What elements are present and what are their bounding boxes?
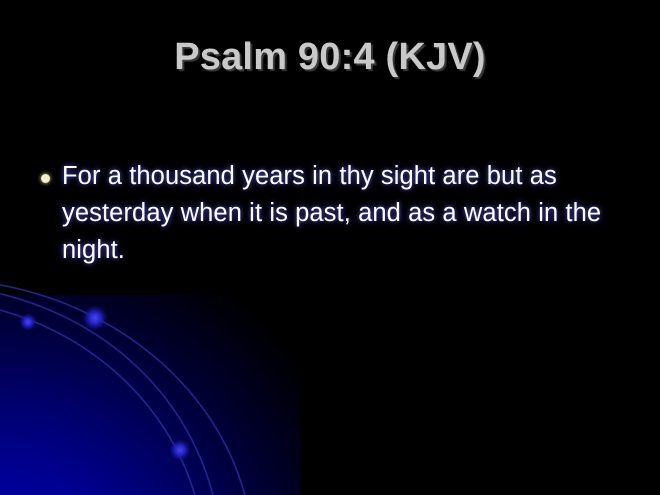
decorative-dot-small-left: [19, 313, 37, 331]
bullet-list-item: For a thousand years in thy sight are bu…: [32, 158, 628, 269]
presentation-slide: Psalm 90:4 (KJV) For a thousand years in…: [0, 0, 660, 495]
slide-body: For a thousand years in thy sight are bu…: [32, 158, 628, 269]
decorative-corner-artwork: [0, 255, 340, 495]
arc-inner-path: [0, 307, 196, 495]
decorative-dot-large-upper: [82, 305, 108, 331]
decorative-arcs-svg: [0, 255, 340, 495]
slide-title: Psalm 90:4 (KJV): [0, 36, 660, 79]
decorative-dot-lower: [169, 439, 191, 461]
arc-middle-glow: [0, 291, 214, 495]
arc-outer-path: [0, 283, 246, 495]
arc-middle-path: [0, 291, 214, 495]
arc-outer-glow: [0, 283, 246, 495]
bullet-dot-icon: [41, 174, 50, 183]
arc-inner-glow: [0, 307, 196, 495]
bullet-item-text: For a thousand years in thy sight are bu…: [62, 158, 628, 269]
blue-radial-glow: [0, 295, 300, 495]
